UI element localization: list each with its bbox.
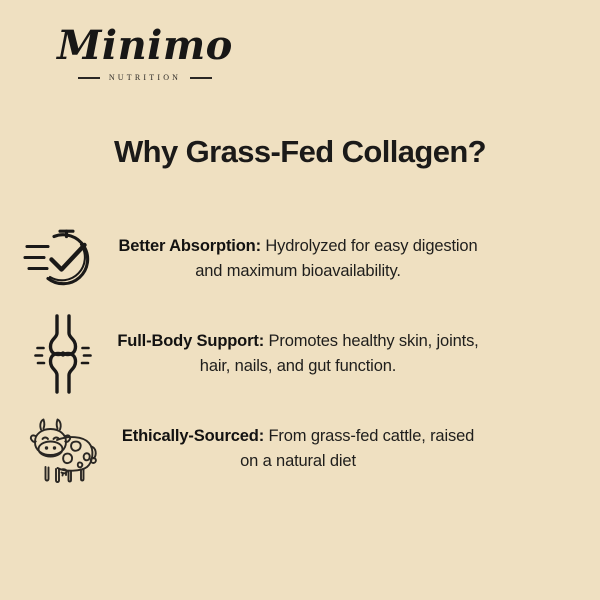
brand-tagline-row: NUTRITION [0,73,290,82]
list-item-body: From grass-fed cattle, raised on a natur… [240,427,474,470]
knee-joint-icon [18,314,108,394]
list-item-text: Ethically-Sourced: From grass-fed cattle… [108,424,488,474]
list-item-title: Full-Body Support: [117,332,264,350]
list-item-title: Better Absorption: [119,237,261,255]
stopwatch-check-icon [18,219,108,299]
list-item: Ethically-Sourced: From grass-fed cattle… [0,401,600,496]
divider-right [190,77,212,79]
benefits-list: Better Absorption: Hydrolyzed for easy d… [0,211,600,496]
list-item: Better Absorption: Hydrolyzed for easy d… [0,211,600,306]
cow-icon [18,409,108,489]
brand-wordmark: Minimo [0,24,290,68]
brand-lockup: Minimo NUTRITION [0,24,290,82]
list-item-text: Full-Body Support: Promotes healthy skin… [108,329,488,379]
divider-left [78,77,100,79]
poster-canvas: Minimo NUTRITION Why Grass-Fed Collagen? [0,0,600,600]
list-item-text: Better Absorption: Hydrolyzed for easy d… [108,234,488,284]
list-item-title: Ethically-Sourced: [122,427,264,445]
page-title: Why Grass-Fed Collagen? [0,133,600,171]
list-item: Full-Body Support: Promotes healthy skin… [0,306,600,401]
brand-tagline: NUTRITION [109,73,181,82]
